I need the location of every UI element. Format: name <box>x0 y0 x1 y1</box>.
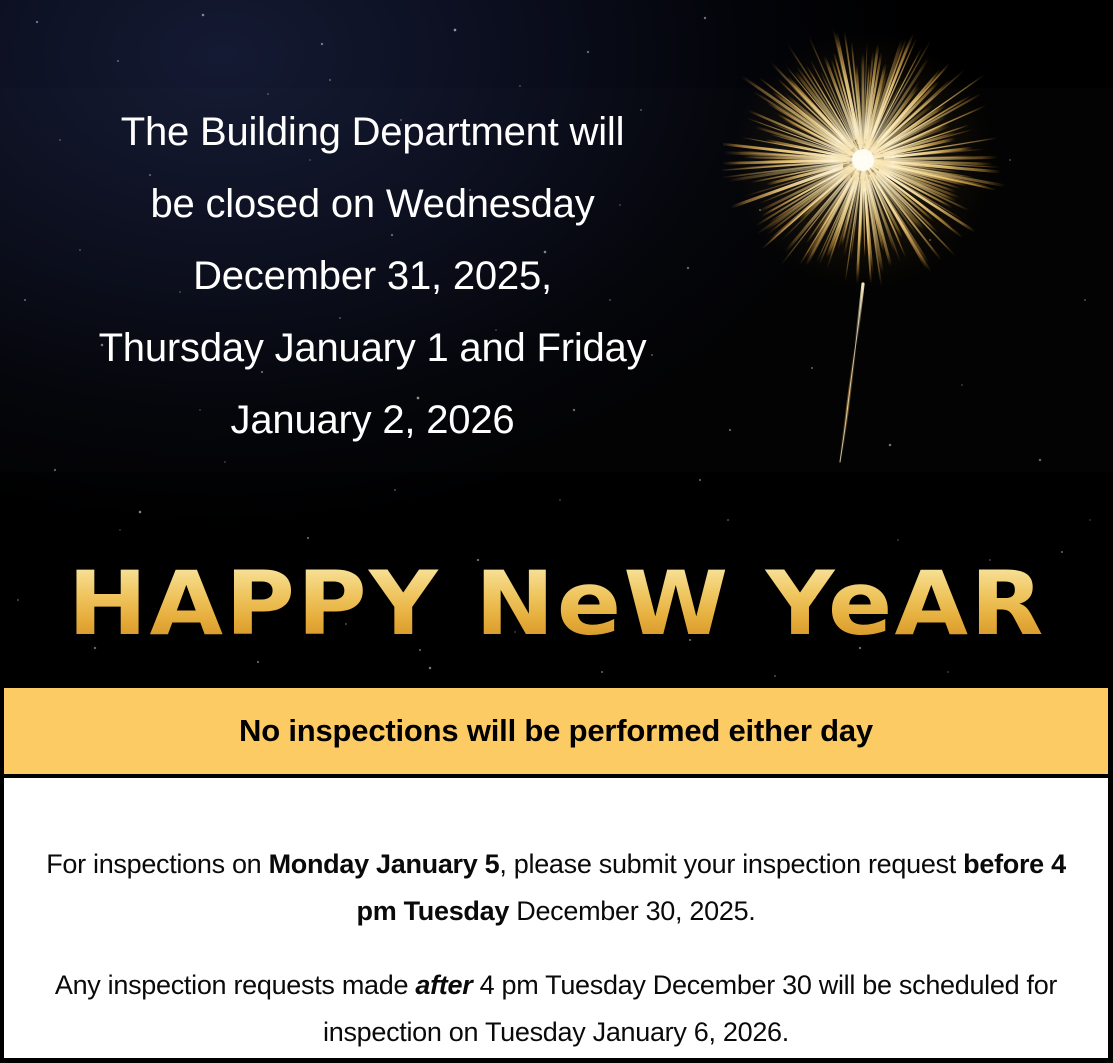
note-paragraph-1: For inspections on Monday January 5, ple… <box>30 841 1082 935</box>
holiday-closure-poster: The Building Department will be closed o… <box>0 0 1113 1063</box>
note-p1-bold-1: Monday January 5 <box>269 849 500 879</box>
inspection-note-section: For inspections on Monday January 5, ple… <box>0 778 1113 1063</box>
headline-line-1: The Building Department will <box>0 96 745 168</box>
closure-headline: The Building Department will be closed o… <box>0 96 745 456</box>
happy-new-year-wordmark: HAPPY NeW YeAR <box>0 560 1113 648</box>
happy-new-year-text: HAPPY NeW YeAR <box>68 560 1046 648</box>
note-paragraph-2: Any inspection requests made after 4 pm … <box>30 962 1082 1056</box>
night-sky-hero: The Building Department will be closed o… <box>0 0 1113 685</box>
headline-line-5: January 2, 2026 <box>0 384 745 456</box>
no-inspections-banner-text: No inspections will be performed either … <box>239 713 873 749</box>
note-p1-part-3: December 30, 2025. <box>509 896 755 926</box>
note-p1-part-1: For inspections on <box>46 849 268 879</box>
headline-line-2: be closed on Wednesday <box>0 168 745 240</box>
note-p1-part-2: , please submit your inspection request <box>499 849 963 879</box>
note-p2-part-1: Any inspection requests made <box>55 970 416 1000</box>
firework-icon <box>723 0 1063 472</box>
no-inspections-banner: No inspections will be performed either … <box>0 685 1113 778</box>
headline-line-4: Thursday January 1 and Friday <box>0 312 745 384</box>
headline-line-3: December 31, 2025, <box>0 240 745 312</box>
note-p2-italic-1: after <box>415 970 472 1000</box>
